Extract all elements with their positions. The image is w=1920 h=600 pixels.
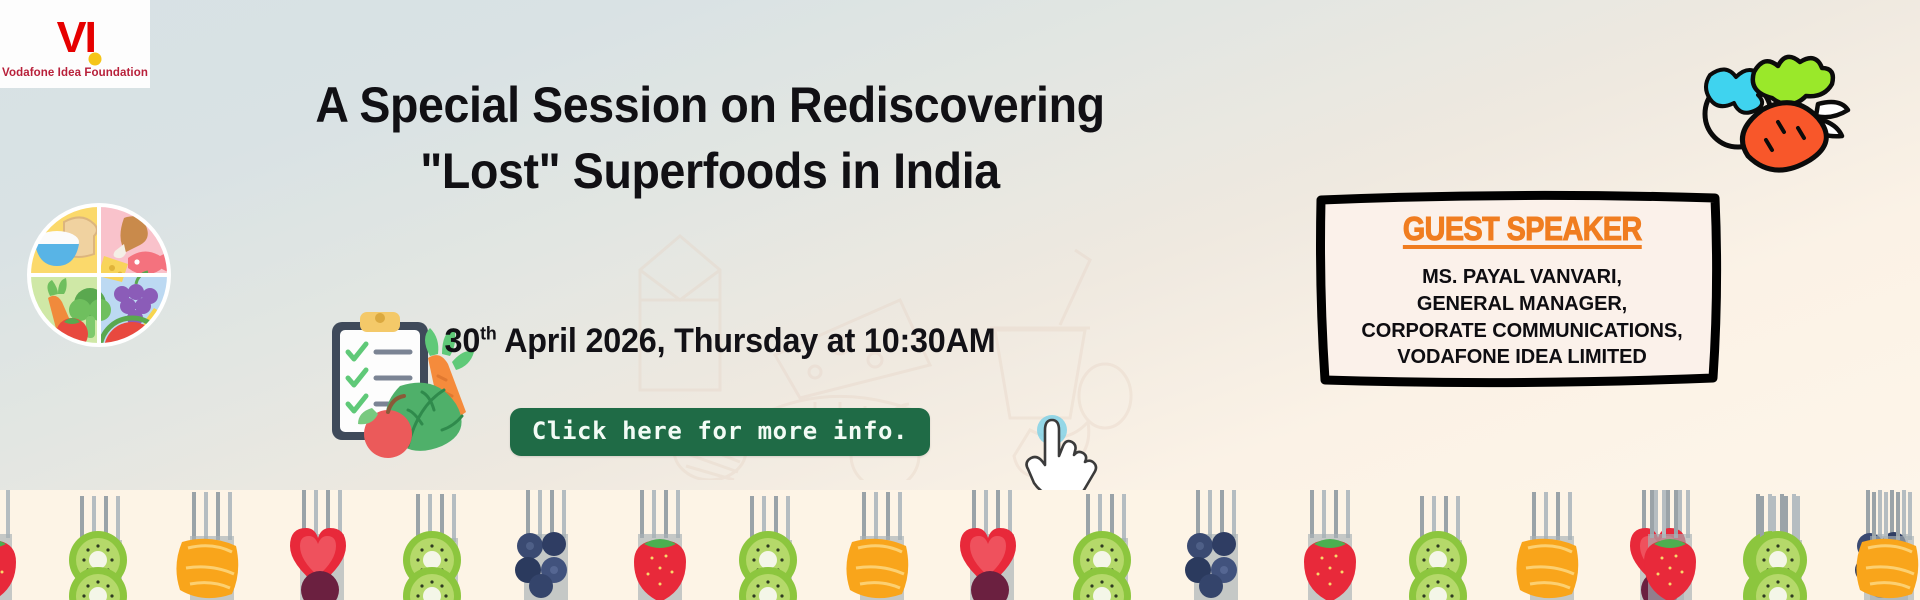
- balanced-diet-plate-icon: [24, 200, 174, 350]
- page-title: A Special Session on Rediscovering "Lost…: [217, 72, 1203, 204]
- carrot-tomato-doodle-icon: [1690, 42, 1855, 177]
- logo-caption: Vodafone Idea Foundation: [2, 67, 148, 79]
- guest-speaker-details: MS. PAYAL VANVARI, GENERAL MANAGER, CORP…: [1361, 264, 1682, 371]
- guest-speaker-card: GUEST SPEAKER MS. PAYAL VANVARI, GENERAL…: [1315, 188, 1725, 388]
- headline-line-2: "Lost" Superfoods in India: [217, 138, 1203, 204]
- fruit-skewer-border: [0, 490, 1920, 600]
- vodafone-idea-foundation-logo: VI Vodafone Idea Foundation: [0, 0, 150, 88]
- svg-text:VI: VI: [57, 13, 95, 62]
- event-day-ordinal: th: [480, 323, 496, 344]
- event-banner: VI Vodafone Idea Foundation: [0, 0, 1920, 600]
- event-rest: April 2026, Thursday at 10:30AM: [496, 322, 995, 360]
- speaker-line-2: GENERAL MANAGER,: [1361, 291, 1682, 318]
- speaker-line-1: MS. PAYAL VANVARI,: [1361, 264, 1682, 291]
- speaker-line-4: VODAFONE IDEA LIMITED: [1361, 344, 1682, 371]
- event-datetime: 30th April 2026, Thursday at 10:30AM: [274, 322, 1167, 361]
- headline-line-1: A Special Session on Rediscovering: [315, 77, 1104, 133]
- more-info-button[interactable]: Click here for more info.: [510, 408, 930, 456]
- event-day: 30: [445, 322, 481, 360]
- guest-speaker-title: GUEST SPEAKER: [1403, 210, 1642, 248]
- speaker-line-3: CORPORATE COMMUNICATIONS,: [1361, 318, 1682, 345]
- vi-logo-mark: VI: [33, 12, 117, 66]
